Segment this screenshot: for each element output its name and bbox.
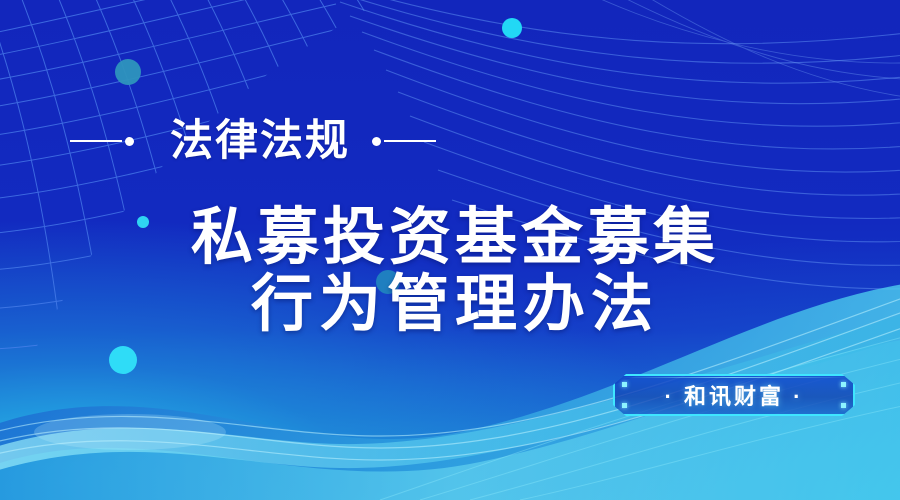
badge-corner-square-bottom-right-icon	[841, 403, 846, 408]
cyan-circle-top-center	[502, 18, 522, 38]
teal-circle-top-left	[115, 59, 141, 85]
brand-badge: · 和讯财富 ·	[613, 374, 855, 416]
rule-dot-left	[125, 137, 134, 146]
rule-dot-right	[372, 137, 381, 146]
line-dot-rule-right-icon	[372, 137, 436, 146]
cyan-circle-bottom-left	[109, 346, 137, 374]
brand-badge-label: · 和讯财富 ·	[613, 374, 855, 416]
title-line-1: 私募投资基金募集	[10, 205, 900, 272]
title-line-2: 行为管理办法	[10, 272, 900, 339]
banner-root: 法律法规 私募投资基金募集 行为管理办法 · 和讯财富 ·	[0, 0, 900, 500]
kicker-label: 法律法规	[170, 120, 350, 163]
badge-corner-square-top-right-icon	[841, 382, 846, 387]
badge-corner-square-bottom-left-icon	[622, 403, 627, 408]
banner-title: 私募投资基金募集 行为管理办法	[0, 205, 900, 339]
badge-corner-square-top-left-icon	[622, 382, 627, 387]
rule-line-right	[384, 140, 436, 142]
kicker-row: 法律法规	[0, 114, 520, 168]
line-dot-rule-left-icon	[70, 137, 134, 146]
rule-line-left	[70, 140, 122, 142]
